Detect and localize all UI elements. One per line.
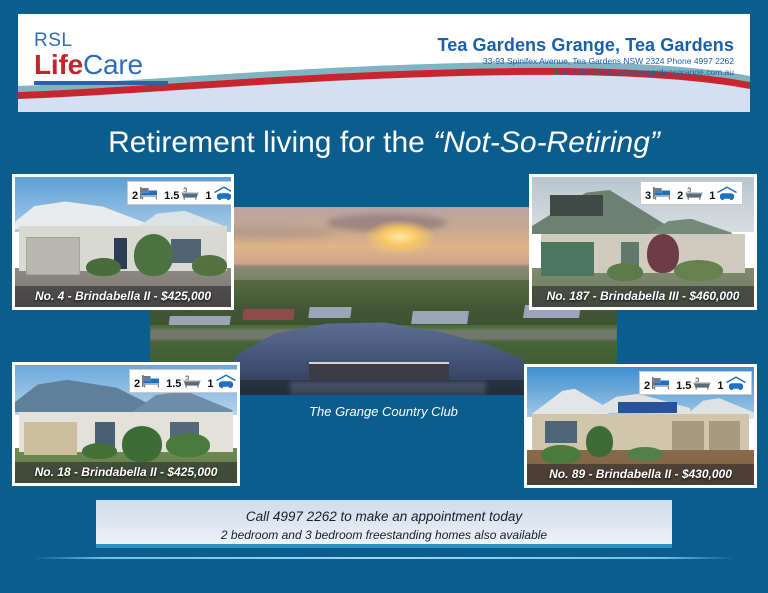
photo-tree [586, 426, 613, 457]
photo-garage-door [24, 422, 77, 455]
badge-bedrooms: 3 [645, 186, 672, 201]
bed-icon [651, 376, 671, 391]
headline-quoted: “Not-So-Retiring” [433, 126, 660, 159]
bathrooms-count: 1.5 [164, 191, 179, 202]
page-headline: Retirement living for the “Not-So-Retiri… [0, 125, 768, 161]
photo-shrub [86, 258, 121, 276]
property-photo: 2 1.5 [15, 177, 231, 307]
village-title: Tea Gardens Grange, Tea Gardens [437, 34, 734, 56]
property-features-badge: 2 1.5 [127, 181, 231, 205]
badge-carspaces: 1 [207, 374, 236, 389]
photo-shrub [82, 443, 118, 460]
photo-shrub [122, 426, 162, 461]
bathrooms-count: 2 [677, 191, 683, 202]
logo-care-text: Care [83, 49, 143, 80]
carspaces-count: 1 [207, 379, 213, 390]
property-features-badge: 2 1.5 [129, 369, 237, 393]
headline-lead: Retirement living for the [108, 126, 433, 159]
badge-bedrooms: 2 [644, 376, 671, 391]
photo-garage-door [26, 237, 80, 275]
badge-carspaces: 1 [205, 186, 231, 201]
property-photo: 2 1.5 [15, 365, 237, 483]
badge-bedrooms: 2 [134, 374, 161, 389]
carport-icon [213, 186, 231, 201]
carport-icon [725, 376, 747, 391]
bed-icon [139, 186, 159, 201]
cta-availability-line: 2 bedroom and 3 bedroom freestanding hom… [96, 524, 672, 542]
photo-shrub [166, 433, 210, 457]
logo-lifecare-text: LifeCare [34, 50, 194, 79]
property-card-no-4[interactable]: 2 1.5 [12, 174, 234, 310]
photo-window [545, 421, 577, 442]
badge-carspaces: 1 [717, 376, 746, 391]
photo-shrub [627, 447, 663, 461]
property-features-badge: 3 2 [640, 181, 743, 205]
carport-icon [215, 374, 237, 389]
badge-bathrooms: 1.5 [164, 186, 200, 201]
bathtub-icon [182, 374, 202, 389]
property-caption: No. 18 - Brindabella II - $425,000 [15, 462, 237, 483]
photo-shrub [134, 234, 173, 276]
badge-bathrooms: 1.5 [166, 374, 202, 389]
bathtub-icon [684, 186, 704, 201]
call-to-action-box: Call 4997 2262 to make an appointment to… [96, 500, 672, 548]
property-card-no-89[interactable]: 2 1.5 [524, 364, 757, 488]
property-card-no-18[interactable]: 2 1.5 [12, 362, 240, 486]
property-photo: 2 1.5 [527, 367, 754, 485]
logo-underline-rule [34, 81, 168, 85]
carspaces-count: 1 [717, 381, 723, 392]
logo-life-text: Life [34, 49, 83, 80]
bedrooms-count: 2 [644, 381, 650, 392]
bathrooms-count: 1.5 [166, 379, 181, 390]
property-photo: 3 2 [532, 177, 754, 307]
badge-bathrooms: 2 [677, 186, 704, 201]
hero-village-roof [308, 307, 352, 318]
carspaces-count: 1 [709, 191, 715, 202]
poster-canvas: RSL LifeCare Tea Gardens Grange, Tea Gar… [0, 0, 768, 593]
bedrooms-count: 3 [645, 191, 651, 202]
bedrooms-count: 2 [132, 191, 138, 202]
hero-village-roof [243, 309, 296, 320]
badge-carspaces: 1 [709, 186, 738, 201]
bed-icon [141, 374, 161, 389]
photo-garage-door [709, 421, 741, 449]
property-caption: No. 187 - Brindabella III - $460,000 [532, 286, 754, 307]
rsl-lifecare-logo: RSL LifeCare [34, 31, 194, 85]
cta-phone-line: Call 4997 2262 to make an appointment to… [96, 500, 672, 524]
photo-solar-panel [550, 195, 603, 216]
header-contact-block: Tea Gardens Grange, Tea Gardens 33-93 Sp… [437, 34, 734, 78]
photo-garage-door [672, 421, 704, 449]
bathtub-icon [692, 376, 712, 391]
photo-shrub [541, 445, 582, 464]
bathtub-icon [180, 186, 200, 201]
photo-solar-panel [618, 402, 677, 413]
bed-icon [652, 186, 672, 201]
photo-shrub [192, 255, 227, 276]
bathrooms-count: 1.5 [676, 381, 691, 392]
hero-village-roof [411, 311, 469, 324]
logo-rsl-text: RSL [34, 31, 194, 50]
carport-icon [716, 186, 738, 201]
village-contact: Fax 4997 1646 www.teagardensgrange.com.a… [437, 67, 734, 78]
property-caption: No. 89 - Brindabella II - $430,000 [527, 464, 754, 485]
badge-bedrooms: 2 [132, 186, 159, 201]
photo-garage-door [541, 242, 594, 276]
property-caption: No. 4 - Brindabella II - $425,000 [15, 286, 231, 307]
bedrooms-count: 2 [134, 379, 140, 390]
photo-shrub [674, 260, 723, 281]
village-address: 33-93 Spinifex Avenue, Tea Gardens NSW 2… [437, 56, 734, 67]
property-features-badge: 2 1.5 [639, 371, 752, 395]
hero-sun [365, 220, 435, 254]
header-banner: RSL LifeCare Tea Gardens Grange, Tea Gar… [18, 14, 750, 112]
photo-shrub [607, 263, 643, 281]
bottom-divider-rule [34, 557, 734, 559]
property-card-no-187[interactable]: 3 2 [529, 174, 757, 310]
carspaces-count: 1 [205, 191, 211, 202]
badge-bathrooms: 1.5 [676, 376, 712, 391]
